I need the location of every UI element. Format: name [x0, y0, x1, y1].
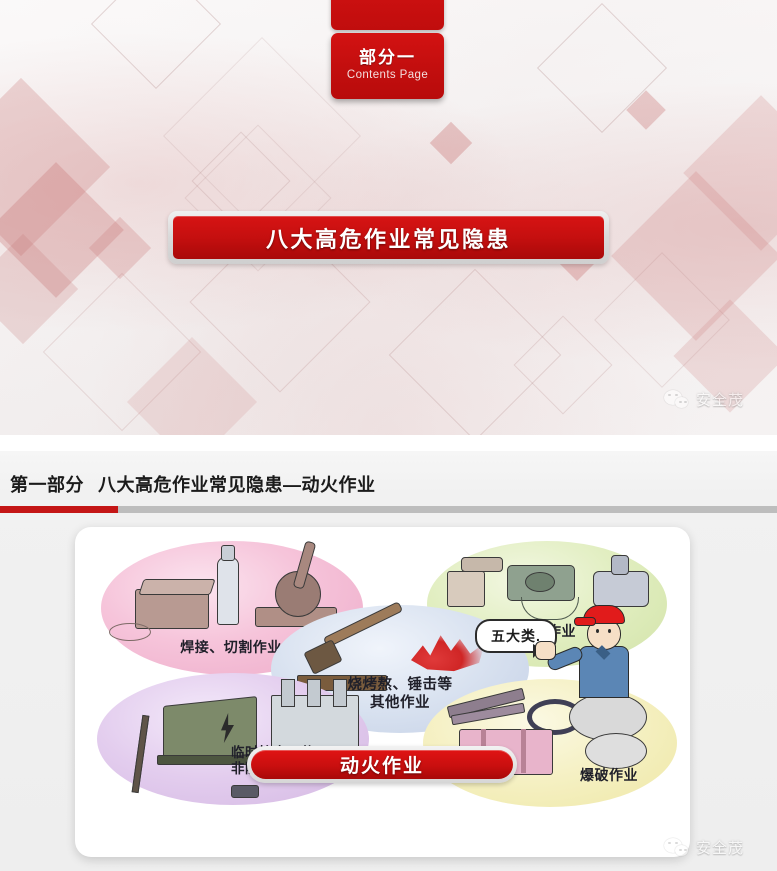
worker-cap-icon: [583, 605, 625, 624]
wechat-icon: [664, 390, 690, 410]
worker-figure: [561, 605, 635, 695]
wechat-icon: [664, 838, 690, 858]
contents-tab[interactable]: 部分一 Contents Page: [331, 33, 444, 99]
blowtorch-icon: [447, 571, 485, 607]
title-banner-frame: 八大高危作业常见隐患: [168, 211, 609, 264]
worker-eye-icon: [608, 629, 611, 633]
worker-hand-icon: [535, 641, 556, 660]
heater-knob-icon: [611, 555, 629, 575]
blast-cloud-icon: [585, 733, 647, 769]
category-label-blasting: 爆破作业: [549, 767, 669, 784]
watermark-slide1: 安全茂: [664, 389, 744, 410]
title-banner: 八大高危作业常见隐患: [173, 216, 604, 259]
welding-machine-top-icon: [138, 579, 215, 595]
slide-deck-screenshot: 部分一 Contents Page 八大高危作业常见隐患 安全茂 第一部分: [0, 0, 777, 871]
slide2-header: 第一部分 八大高危作业常见隐患—动火作业: [10, 471, 376, 497]
watermark-text: 安全茂: [696, 389, 744, 410]
contents-tab-en: Contents Page: [347, 69, 428, 83]
cylinder-valve-icon: [221, 545, 235, 561]
welding-machine-icon: [135, 589, 209, 629]
worker-eye-icon: [596, 629, 599, 633]
watermark-text: 安全茂: [696, 837, 744, 858]
diagram-card: 焊接、切割作业 明火作业 烧烤熬、锤击等 其他作业: [75, 527, 690, 857]
torch-nozzle-icon: [461, 557, 503, 572]
slide-divider: [0, 435, 777, 451]
page-title: 八大高危作业常见隐患—动火作业: [98, 471, 376, 497]
header-rule: [0, 506, 777, 513]
substation-tower-icon: [307, 679, 321, 707]
gas-cylinder-icon: [217, 557, 239, 625]
substation-tower-icon: [281, 679, 295, 707]
slide-title-page: 部分一 Contents Page 八大高危作业常见隐患 安全茂: [0, 0, 777, 435]
header-section-label: 第一部分: [10, 471, 84, 497]
operation-pill[interactable]: 动火作业: [251, 750, 513, 779]
title-banner-text: 八大高危作业常见隐患: [266, 222, 511, 254]
explosive-strap-icon: [521, 729, 526, 773]
watermark-slide2: 安全茂: [664, 837, 744, 858]
operation-pill-frame: 动火作业: [247, 746, 517, 783]
header-rule-accent: [0, 506, 118, 513]
contents-tab-top-block: [331, 0, 444, 30]
operation-pill-label: 动火作业: [340, 751, 424, 778]
heater-icon: [593, 571, 649, 607]
substation-tower-icon: [333, 679, 347, 707]
diagram-stage: 焊接、切割作业 明火作业 烧烤熬、锤击等 其他作业: [75, 527, 690, 857]
slide-content-page: 第一部分 八大高危作业常见隐患—动火作业 焊接、切割作业: [0, 451, 777, 871]
power-plug-icon: [231, 785, 259, 798]
stove-burner-icon: [525, 572, 555, 592]
contents-tab-zh: 部分一: [359, 49, 416, 68]
callout-text: 五大类.: [491, 626, 541, 646]
